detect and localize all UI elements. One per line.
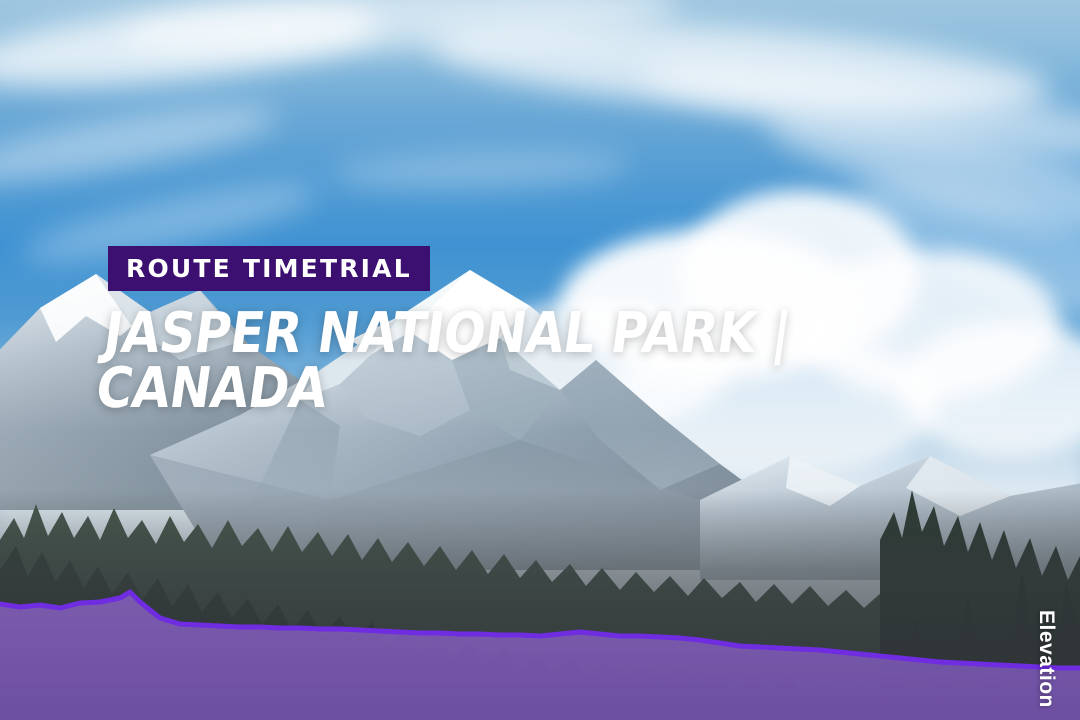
- eyebrow-badge: ROUTE TIMETRIAL: [108, 246, 430, 291]
- cirrus-cloud: [0, 91, 282, 199]
- cirrus-cloud: [329, 145, 630, 195]
- page-title: JASPER NATIONAL PARK | CANADA: [93, 307, 794, 417]
- hero-banner: ROUTE TIMETRIAL JASPER NATIONAL PARK | C…: [0, 0, 1080, 720]
- elevation-area-fill: [0, 592, 1080, 720]
- elevation-svg: [0, 560, 1080, 720]
- elevation-axis-label: Elevation: [1034, 610, 1058, 708]
- elevation-profile-chart: [0, 560, 1080, 720]
- title-block: ROUTE TIMETRIAL JASPER NATIONAL PARK | C…: [108, 246, 887, 417]
